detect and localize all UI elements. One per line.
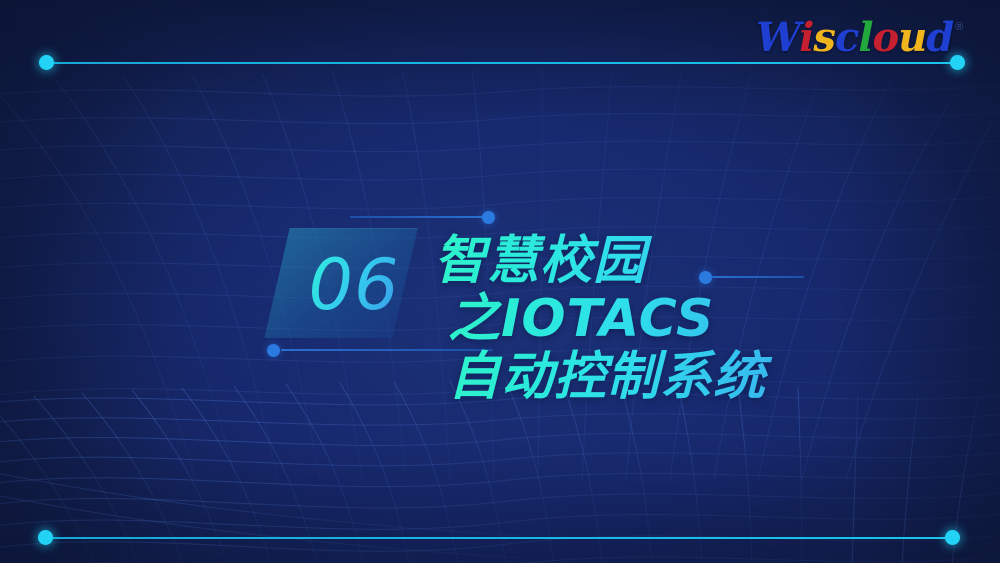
- brand-letter: c: [835, 14, 858, 61]
- brand-wordmark: Wiscloud: [756, 17, 953, 59]
- brand-letter: s: [813, 14, 835, 61]
- brand-letter: W: [756, 14, 799, 61]
- brand-letter: l: [858, 14, 872, 61]
- slide-title: 智慧校园 之IOTACS 自动控制系统: [434, 232, 974, 406]
- slide-title-line-1: 智慧校园: [434, 232, 974, 290]
- brand-letter: u: [898, 14, 926, 61]
- accent-dot-top-left: [39, 55, 54, 70]
- accent-dot-bottom-left: [38, 530, 53, 545]
- accent-line-top: [48, 62, 958, 64]
- brand-letter: i: [799, 14, 813, 61]
- brand-letter: o: [873, 14, 899, 61]
- accent-line-bottom: [48, 537, 950, 539]
- registered-trademark-mark: ®: [955, 21, 963, 33]
- title-slide: 06 智慧校园 之IOTACS 自动控制系统 Wiscloud ®: [0, 0, 1000, 563]
- section-number-label: 06: [288, 231, 420, 339]
- slide-title-line-3: 自动控制系统: [448, 348, 974, 406]
- accent-line-badge-top: [350, 216, 483, 218]
- accent-dot-bottom-right: [945, 530, 960, 545]
- accent-dot-badge-bottom: [267, 344, 280, 357]
- brand-logo: Wiscloud ®: [756, 17, 963, 59]
- slide-title-line-2: 之IOTACS: [448, 290, 974, 348]
- brand-letter: d: [926, 14, 953, 61]
- accent-dot-badge-top: [482, 211, 495, 224]
